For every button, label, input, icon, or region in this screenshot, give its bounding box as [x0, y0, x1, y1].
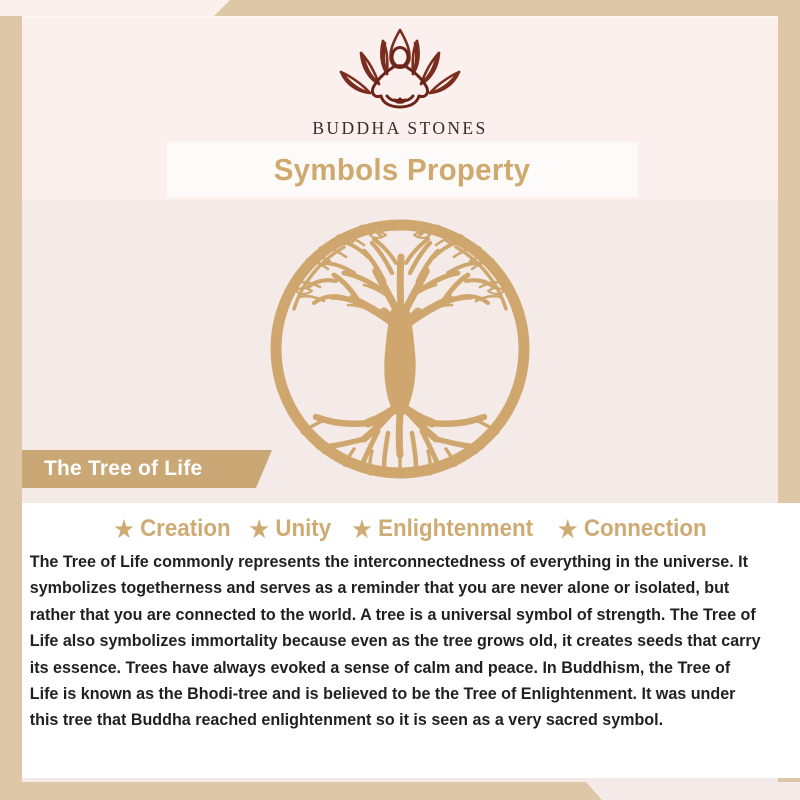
poster-canvas: BUDDHA STONES Symbols Property	[0, 0, 800, 800]
keyword-label: Creation	[140, 515, 231, 543]
keyword-label: Enlightenment	[378, 515, 533, 543]
keyword-item: ★ Creation	[114, 515, 230, 543]
title-band: Symbols Property	[167, 142, 638, 197]
keyword-item: ★ Enlightenment	[342, 515, 534, 543]
star-icon: ★	[249, 518, 268, 541]
keyword-label: Connection	[583, 515, 706, 543]
lotus-meditation-figure-icon	[325, 24, 475, 116]
keyword-item: ★ Connection	[547, 515, 707, 543]
keyword-label: Unity	[275, 515, 331, 543]
keyword-item: ★ Unity	[238, 515, 331, 543]
section-banner-label: The Tree of Life	[22, 457, 202, 481]
content-panel: ★ Creation ★ Unity ★ Enlightenment ★ Con…	[22, 503, 800, 778]
tree-of-life-icon	[268, 217, 532, 481]
body-paragraph: The Tree of Life commonly represents the…	[22, 549, 777, 734]
star-icon: ★	[353, 518, 372, 541]
section-banner: The Tree of Life	[22, 450, 272, 488]
star-icon: ★	[114, 518, 133, 541]
keyword-list: ★ Creation ★ Unity ★ Enlightenment ★ Con…	[22, 503, 800, 543]
brand-name: BUDDHA STONES	[0, 118, 800, 139]
star-icon: ★	[558, 518, 577, 541]
brand-header: BUDDHA STONES	[0, 24, 800, 139]
page-title: Symbols Property	[274, 152, 531, 188]
